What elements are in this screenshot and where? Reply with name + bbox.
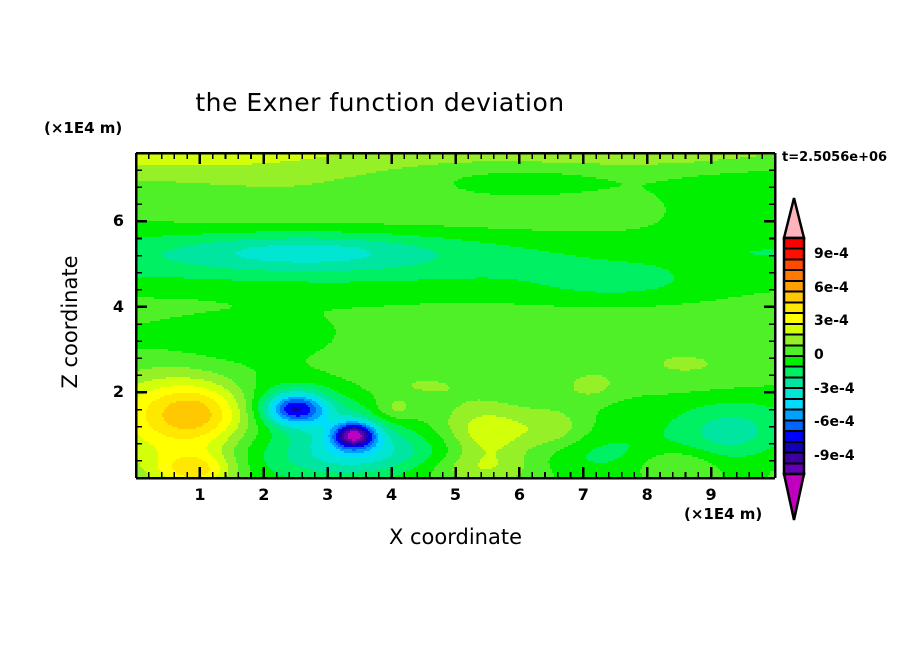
x-tick-label: 9 — [691, 485, 731, 504]
y-axis-title: Z coordinate — [58, 222, 82, 422]
x-tick-label: 2 — [244, 485, 284, 504]
colorbar-tick-label: -3e-4 — [814, 381, 855, 397]
x-tick-label: 7 — [563, 485, 603, 504]
x-axis-title: X coordinate — [136, 525, 775, 549]
y-tick-label: 4 — [92, 297, 124, 316]
colorbar-tick-label: 9e-4 — [814, 246, 849, 262]
y-tick-label: 2 — [92, 382, 124, 401]
x-tick-label: 1 — [180, 485, 220, 504]
timestamp-annotation: t=2.5056e+06 — [782, 150, 887, 165]
x-tick-label: 5 — [436, 485, 476, 504]
figure-canvas: the Exner function deviation (×1E4 m) t=… — [0, 0, 904, 654]
colorbar-tick-label: -9e-4 — [814, 448, 855, 464]
colorbar-tick-label: 6e-4 — [814, 280, 849, 296]
axes-frame — [130, 147, 790, 492]
x-tick-label: 6 — [499, 485, 539, 504]
x-tick-label: 8 — [627, 485, 667, 504]
z-axis-unit-label: (×1E4 m) — [44, 119, 122, 137]
colorbar-tick-label: -6e-4 — [814, 414, 855, 430]
page-title: the Exner function deviation — [0, 88, 760, 117]
colorbar-tick-label: 0 — [814, 347, 824, 363]
x-tick-label: 4 — [372, 485, 412, 504]
x-tick-label: 3 — [308, 485, 348, 504]
colorbar — [778, 196, 812, 524]
y-tick-label: 6 — [92, 211, 124, 230]
x-axis-unit-label: (×1E4 m) — [684, 505, 762, 523]
colorbar-tick-label: 3e-4 — [814, 313, 849, 329]
